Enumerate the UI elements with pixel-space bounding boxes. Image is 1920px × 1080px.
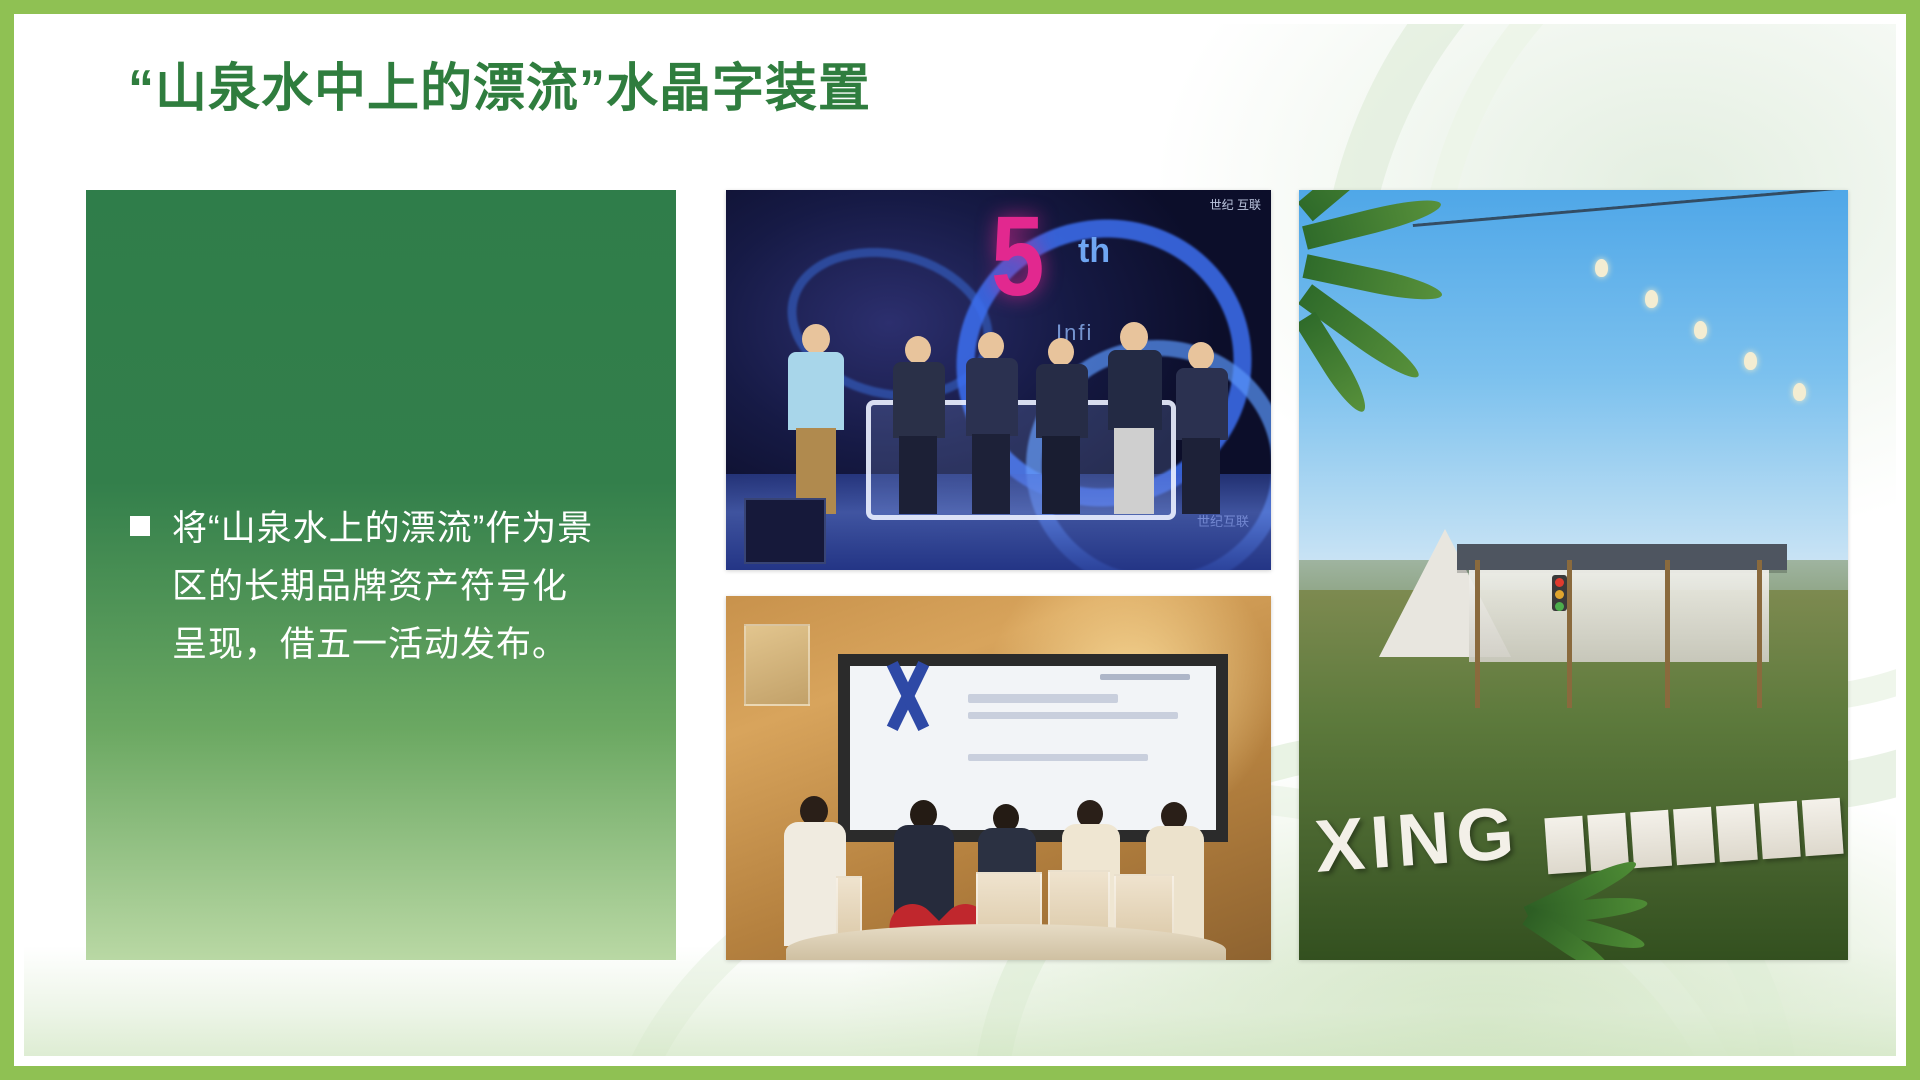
stage-anniversary-number: 5 [991, 192, 1044, 322]
photo-outdoor-camp: X I N G [1299, 190, 1848, 960]
slide-border-bottom [0, 1066, 1920, 1080]
camp-letter: N [1395, 805, 1453, 875]
palm-tree [1305, 200, 1475, 400]
stage-person [891, 336, 945, 514]
camp-letter: I [1368, 809, 1393, 877]
stage-person [1034, 338, 1088, 514]
stage-person [1106, 322, 1162, 514]
traffic-light [1552, 575, 1567, 611]
string-light-bulb [1744, 352, 1757, 370]
canopy-pole [1567, 560, 1572, 708]
slide-border-top [0, 0, 1920, 14]
slide-canvas: “山泉水中上的漂流”水晶字装置 将“山泉水上的漂流”作为景区的长期品牌资产符号化… [0, 0, 1920, 1080]
stage-person [964, 332, 1018, 514]
bullet-text: 将“山泉水上的漂流”作为景区的长期品牌资产符号化呈现，借五一活动发布。 [172, 500, 602, 674]
content-area: 将“山泉水上的漂流”作为景区的长期品牌资产符号化呈现，借五一活动发布。 5 th… [86, 190, 1848, 980]
stage-speaker-box [744, 498, 826, 564]
xing-letter-installation: X I N G [1313, 801, 1516, 881]
wall-plaque [744, 624, 810, 706]
string-light-bulb [1694, 321, 1707, 339]
camp-letter: X [1313, 811, 1367, 881]
bullet-square-icon [130, 516, 150, 536]
slide-border-left [0, 0, 14, 1080]
canopy-pole [1665, 560, 1670, 708]
slide-border-right [1906, 0, 1920, 1080]
screen-x-graphic [872, 660, 942, 730]
photo-stage-ceremony: 5 th Infi 世纪 互联 世纪互联 [726, 190, 1271, 570]
canopy-pole [1757, 560, 1762, 708]
string-light-bulb [1793, 383, 1806, 401]
stage-person [786, 324, 844, 514]
bullet-list-item: 将“山泉水上的漂流”作为景区的长期品牌资产符号化呈现，借五一活动发布。 [130, 500, 602, 674]
stage-person [1174, 342, 1228, 514]
canopy-roof [1457, 544, 1787, 570]
stage-corner-logo: 世纪 互联 [1210, 198, 1261, 213]
stage-anniversary-ordinal: th [1078, 232, 1110, 271]
canopy-fabric [1469, 570, 1769, 662]
camp-letter: G [1454, 801, 1516, 871]
page-title: “山泉水中上的漂流”水晶字装置 [128, 46, 871, 121]
fern-plant [1528, 806, 1738, 926]
string-light-bulb [1645, 290, 1658, 308]
text-panel: 将“山泉水上的漂流”作为景区的长期品牌资产符号化呈现，借五一活动发布。 [86, 190, 676, 960]
page-title-wrap: “山泉水中上的漂流”水晶字装置 [128, 46, 871, 121]
canopy-pole [1475, 560, 1480, 708]
photo-indoor-ceremony [726, 596, 1271, 960]
